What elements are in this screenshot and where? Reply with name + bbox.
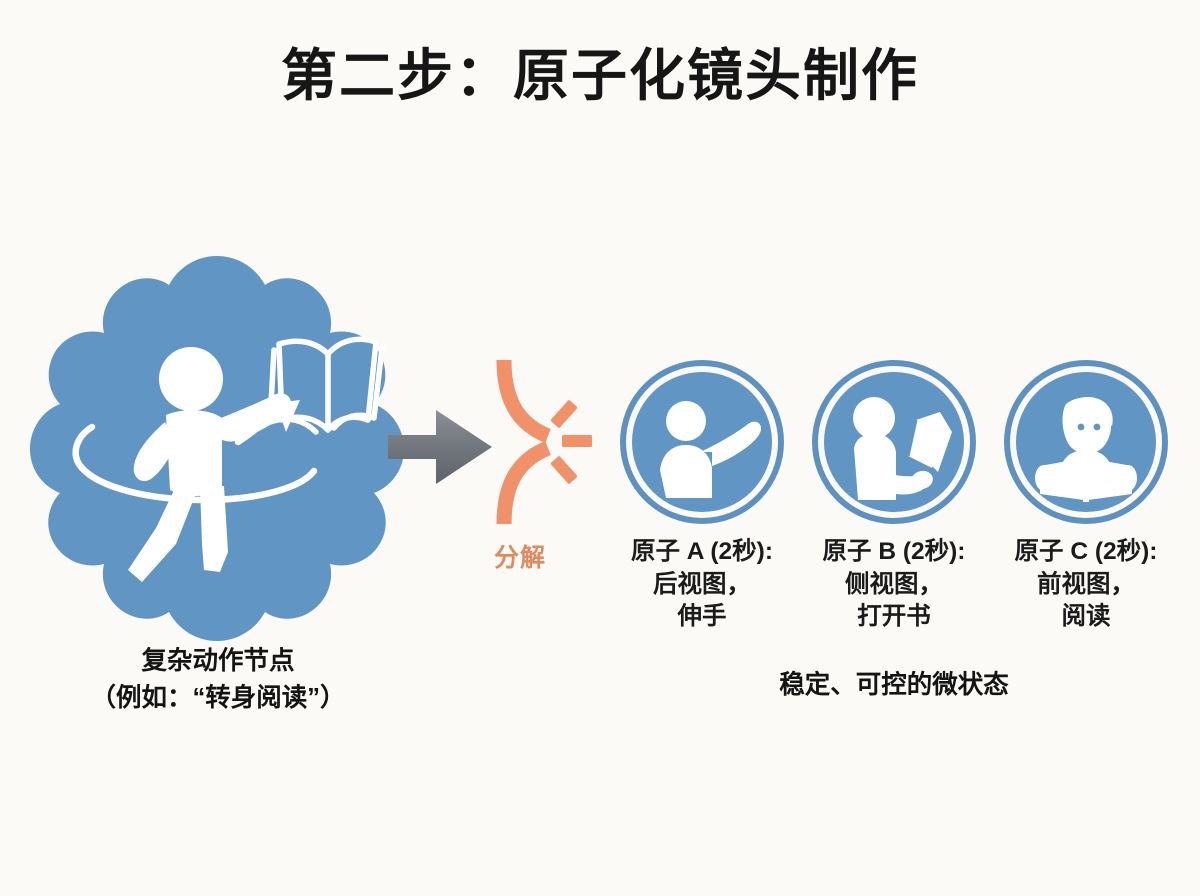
atom-b-caption: 原子 B (2秒): 侧视图， 打开书 bbox=[823, 536, 966, 634]
atoms-summary-caption: 稳定、可控的微状态 bbox=[612, 668, 1176, 704]
atom-card-b[interactable]: 原子 B (2秒): 侧视图， 打开书 bbox=[804, 360, 984, 660]
person-front-view-reading-icon bbox=[1004, 360, 1168, 524]
complex-node-caption: 复杂动作节点 （例如：“转身阅读”） bbox=[28, 643, 408, 717]
atom-a-line2: 后视图， bbox=[631, 569, 773, 602]
decompose-label: 分解 bbox=[440, 538, 600, 574]
atom-b-title: 原子 B (2秒): bbox=[823, 536, 966, 569]
atom-card-c[interactable]: 原子 C (2秒): 前视图， 阅读 bbox=[996, 360, 1176, 660]
person-turning-to-read-book-icon bbox=[24, 252, 410, 634]
split-burst-icon bbox=[452, 352, 602, 532]
person-side-view-opening-book-icon bbox=[812, 360, 976, 524]
person-back-view-reaching-icon bbox=[620, 360, 784, 524]
atom-a-circle[interactable] bbox=[620, 360, 784, 524]
complex-action-node[interactable] bbox=[24, 252, 410, 634]
atom-shot-list: 原子 A (2秒): 后视图， 伸手 bbox=[612, 360, 1176, 660]
complex-node-caption-line1: 复杂动作节点 bbox=[28, 643, 408, 680]
decompose-burst bbox=[452, 352, 602, 532]
atom-a-line3: 伸手 bbox=[631, 601, 773, 634]
atom-card-a[interactable]: 原子 A (2秒): 后视图， 伸手 bbox=[612, 360, 792, 660]
atom-b-line3: 打开书 bbox=[823, 601, 966, 634]
atom-b-circle[interactable] bbox=[812, 360, 976, 524]
atom-a-caption: 原子 A (2秒): 后视图， 伸手 bbox=[631, 536, 773, 634]
slide-canvas: 第二步：原子化镜头制作 bbox=[0, 0, 1200, 896]
atom-c-title: 原子 C (2秒): bbox=[1015, 536, 1158, 569]
atom-c-caption: 原子 C (2秒): 前视图， 阅读 bbox=[1015, 536, 1158, 634]
atom-c-line2: 前视图， bbox=[1015, 569, 1158, 602]
complex-node-caption-line2: （例如：“转身阅读”） bbox=[28, 680, 408, 717]
atom-a-title: 原子 A (2秒): bbox=[631, 536, 773, 569]
page-title: 第二步：原子化镜头制作 bbox=[0, 42, 1200, 109]
atom-c-circle[interactable] bbox=[1004, 360, 1168, 524]
atom-b-line2: 侧视图， bbox=[823, 569, 966, 602]
atom-c-line3: 阅读 bbox=[1015, 601, 1158, 634]
